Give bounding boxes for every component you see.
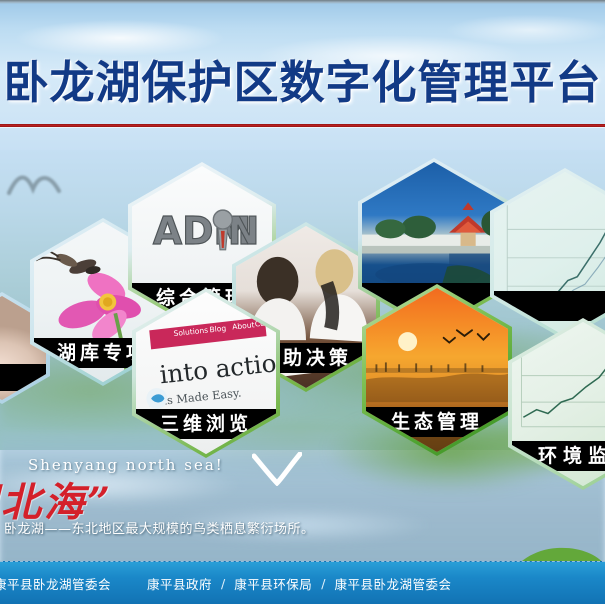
footer-bar: 康平县卧龙湖管委会 康平县政府 / 康平县环保局 / 康平县卧龙湖管委会 bbox=[0, 561, 605, 604]
svg-text:Blog: Blog bbox=[209, 324, 227, 335]
footer-separator-2: / bbox=[321, 576, 325, 591]
top-edge-shadow bbox=[0, 0, 605, 4]
svg-text:N: N bbox=[228, 209, 260, 253]
headline-description: 卧龙湖——东北地区最大规模的鸟类栖息繁衍场所。 bbox=[4, 518, 315, 537]
footer-separator-1: / bbox=[221, 576, 225, 591]
hex-inner: Solutions Blog About Con into action ign… bbox=[136, 292, 276, 454]
footer-link-government[interactable]: 康平县政府 bbox=[147, 574, 212, 593]
footer-links: 康平县政府 / 康平县环保局 / 康平县卧龙湖管委会 bbox=[147, 574, 451, 593]
flying-bird-icon bbox=[5, 165, 65, 215]
footer-link-committee[interactable]: 康平县卧龙湖管委会 bbox=[334, 574, 451, 593]
footer-link-epb[interactable]: 康平县环保局 bbox=[234, 574, 312, 593]
page-root: 卧龙湖保护区数字化管理平台 bbox=[0, 0, 605, 604]
seagull-icon bbox=[252, 452, 302, 486]
svg-text:into action: into action bbox=[158, 347, 276, 390]
hex-inner: 生态管理 bbox=[366, 288, 508, 452]
header-divider bbox=[0, 124, 605, 127]
page-title: 卧龙湖保护区数字化管理平台 bbox=[0, 52, 605, 114]
footer-row: 康平县卧龙湖管委会 康平县政府 / 康平县环保局 / 康平县卧龙湖管委会 bbox=[0, 572, 605, 594]
footer-copyright: 康平县卧龙湖管委会 bbox=[0, 574, 111, 593]
